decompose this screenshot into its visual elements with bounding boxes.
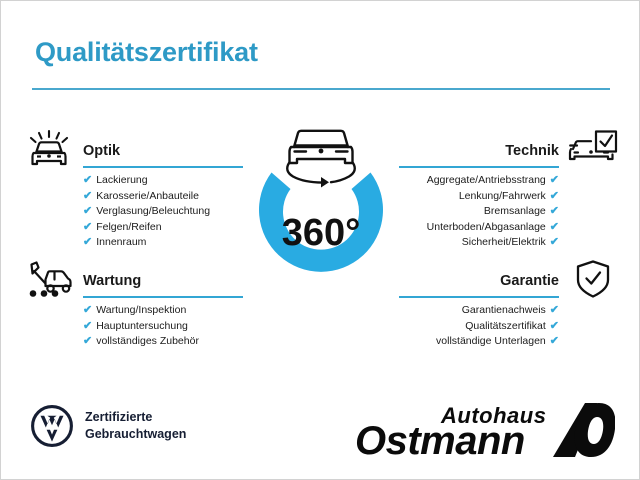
list-item: ✔Karosserie/Anbauteile — [83, 189, 210, 205]
check-icon: ✔ — [83, 335, 92, 347]
badge-center-label: 360° — [282, 212, 361, 254]
checklist-technik: Aggregate/Antriebsstrang✔ Lenkung/Fahrwe… — [427, 173, 559, 251]
section-heading-technik: Technik — [505, 143, 559, 159]
list-item: ✔Verglasung/Beleuchtung — [83, 204, 210, 220]
dealer-logo: Autohaus Ostmann — [353, 399, 615, 461]
check-icon: ✔ — [83, 190, 92, 202]
check-icon: ✔ — [550, 190, 559, 202]
list-item-label: Unterboden/Abgasanlage — [427, 221, 546, 233]
list-item-label: Innenraum — [96, 236, 146, 248]
shield-check-icon — [567, 259, 619, 301]
check-icon: ✔ — [83, 304, 92, 316]
title-divider — [32, 88, 610, 90]
list-item: ✔Hauptuntersuchung — [83, 319, 199, 335]
checklist-optik: ✔Lackierung ✔Karosserie/Anbauteile ✔Verg… — [83, 173, 210, 251]
check-icon: ✔ — [550, 304, 559, 316]
list-item-label: Karosserie/Anbauteile — [96, 190, 199, 202]
check-icon: ✔ — [550, 335, 559, 347]
list-item-label: Lackierung — [96, 174, 147, 186]
section-divider-optik — [83, 166, 243, 168]
list-item: ✔Wartung/Inspektion — [83, 303, 199, 319]
check-icon: ✔ — [550, 205, 559, 217]
list-item: Lenkung/Fahrwerk✔ — [427, 189, 559, 205]
check-icon: ✔ — [550, 221, 559, 233]
check-icon: ✔ — [550, 236, 559, 248]
check-icon: ✔ — [83, 236, 92, 248]
list-item-label: Hauptuntersuchung — [96, 320, 188, 332]
check-icon: ✔ — [83, 320, 92, 332]
list-item: Bremsanlage✔ — [427, 204, 559, 220]
section-heading-wartung: Wartung — [83, 273, 141, 289]
list-item-label: Felgen/Reifen — [96, 221, 161, 233]
ao-monogram-icon — [553, 403, 615, 457]
check-icon: ✔ — [550, 174, 559, 186]
vw-logo-line1: Zertifizierte — [85, 409, 186, 426]
dealer-name-main: Ostmann — [355, 419, 525, 461]
section-divider-garantie — [399, 296, 559, 298]
check-icon: ✔ — [550, 320, 559, 332]
list-item-label: Lenkung/Fahrwerk — [459, 190, 546, 202]
list-item-label: vollständige Unterlagen — [436, 335, 546, 347]
list-item: ✔vollständiges Zubehör — [83, 334, 199, 350]
car-checkbox-icon — [567, 129, 619, 171]
list-item: Unterboden/Abgasanlage✔ — [427, 220, 559, 236]
vw-logo-line2: Gebrauchtwagen — [85, 426, 186, 443]
list-item-label: Verglasung/Beleuchtung — [96, 205, 210, 217]
list-item-label: Wartung/Inspektion — [96, 304, 186, 316]
checklist-wartung: ✔Wartung/Inspektion ✔Hauptuntersuchung ✔… — [83, 303, 199, 350]
badge-360-gebrauchtwagen-check: Gebrauchtwagen-Check 360° — [229, 117, 413, 313]
certificate-page: Qualitätszertifikat — [0, 0, 640, 480]
list-item: Garantienachweis✔ — [436, 303, 559, 319]
vw-certified-logo: Zertifizierte Gebrauchtwagen — [31, 405, 186, 447]
check-icon: ✔ — [83, 174, 92, 186]
list-item: ✔Felgen/Reifen — [83, 220, 210, 236]
wrench-car-icon — [23, 259, 75, 301]
list-item: ✔Innenraum — [83, 235, 210, 251]
list-item: Qualitätszertifikat✔ — [436, 319, 559, 335]
checklist-garantie: Garantienachweis✔ Qualitätszertifikat✔ v… — [436, 303, 559, 350]
list-item-label: vollständiges Zubehör — [96, 335, 199, 347]
car-shine-icon — [23, 129, 75, 171]
list-item-label: Bremsanlage — [484, 205, 546, 217]
car-rotate-icon — [287, 131, 355, 188]
section-divider-wartung — [83, 296, 243, 298]
check-icon: ✔ — [83, 205, 92, 217]
check-icon: ✔ — [83, 221, 92, 233]
page-title: Qualitätszertifikat — [35, 37, 258, 68]
vw-logo-icon — [31, 405, 73, 447]
list-item-label: Qualitätszertifikat — [465, 320, 546, 332]
list-item-label: Sicherheit/Elektrik — [462, 236, 546, 248]
list-item: Sicherheit/Elektrik✔ — [427, 235, 559, 251]
section-heading-garantie: Garantie — [500, 273, 559, 289]
list-item: Aggregate/Antriebsstrang✔ — [427, 173, 559, 189]
list-item: vollständige Unterlagen✔ — [436, 334, 559, 350]
section-heading-optik: Optik — [83, 143, 120, 159]
vw-logo-text: Zertifizierte Gebrauchtwagen — [85, 409, 186, 443]
list-item-label: Garantienachweis — [462, 304, 546, 316]
list-item-label: Aggregate/Antriebsstrang — [427, 174, 546, 186]
list-item: ✔Lackierung — [83, 173, 210, 189]
section-divider-technik — [399, 166, 559, 168]
